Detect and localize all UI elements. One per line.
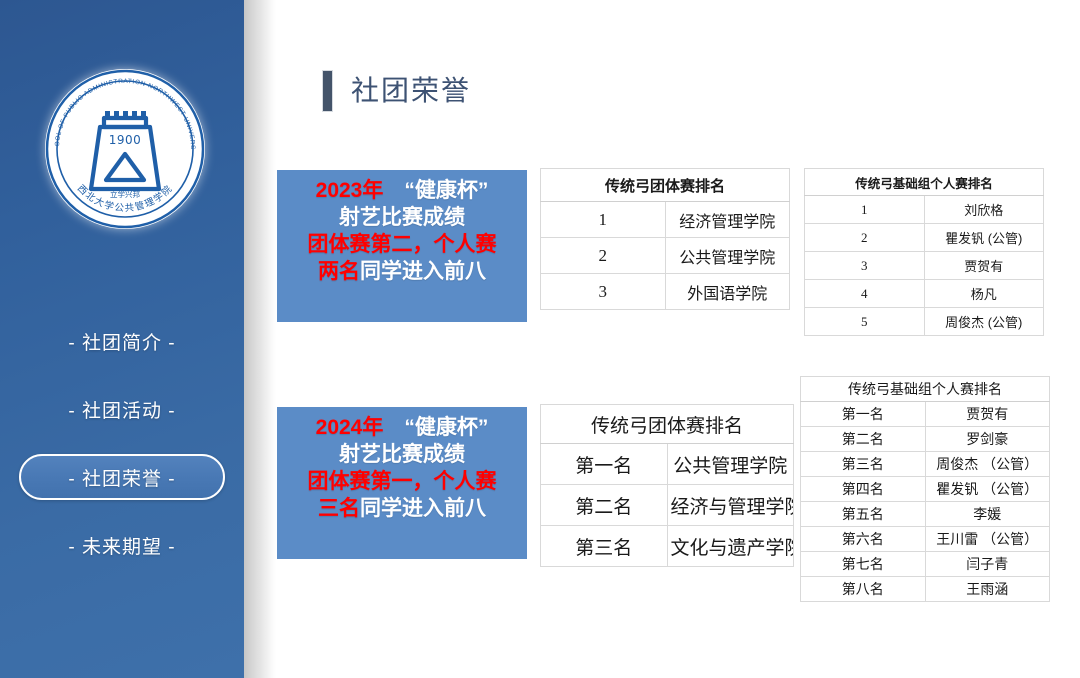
- sidebar-item-label: - 社团荣誉 -: [68, 464, 175, 491]
- cell-name: 公共管理学院: [665, 238, 790, 274]
- table-row: 第五名 李媛: [801, 502, 1050, 527]
- cell-rank: 第七名: [801, 552, 926, 577]
- sidebar-item-label: - 社团简介 -: [68, 328, 175, 355]
- table-row: 第三名 周俊杰 （公管）: [801, 452, 1050, 477]
- callout-line: 团体赛第一，个人赛: [281, 469, 523, 496]
- sidebar-nav: - 社团简介 - - 社团活动 - - 社团荣誉 - - 未来期望 -: [0, 318, 244, 580]
- table-body: 传统弓基础组个人赛排名 第一名 贾贺有 第二名 罗剑豪 第三名 周俊杰 （公管）…: [801, 377, 1050, 602]
- table-team-ranking-2023: 传统弓团体赛排名 1 经济管理学院 2 公共管理学院 3 外国语学院: [540, 168, 790, 310]
- table-row: 第七名 闫子青: [801, 552, 1050, 577]
- callout-segment: 团体赛第二，个人赛: [308, 233, 497, 256]
- callout-segment: 射艺比赛成绩: [339, 206, 465, 229]
- cell-name: 经济与管理学院: [667, 485, 794, 526]
- sidebar-item-label: - 未来期望 -: [68, 532, 175, 559]
- table-row: 2 公共管理学院: [541, 238, 790, 274]
- callout-segment: 三名: [318, 497, 360, 520]
- callout-segment: “健康杯”: [383, 416, 488, 439]
- table-body: 传统弓基础组个人赛排名 1 刘欣格 2 瞿发钒 (公管) 3 贾贺有 4 杨凡: [805, 169, 1044, 336]
- table-title: 传统弓基础组个人赛排名: [801, 377, 1050, 402]
- table-row: 4 杨凡: [805, 280, 1044, 308]
- university-seal-logo: SCHOOL OF PUBLIC ADMINISTRATION NORTHWES…: [42, 66, 208, 232]
- callout-2023: 2023年 “健康杯” 射艺比赛成绩 团体赛第二，个人赛 两名同学进入前八: [277, 170, 527, 322]
- table-header-row: 传统弓团体赛排名: [541, 169, 790, 202]
- table-row: 3 外国语学院: [541, 274, 790, 310]
- table-row: 1 刘欣格: [805, 196, 1044, 224]
- cell-rank: 2: [805, 224, 925, 252]
- cell-rank: 第五名: [801, 502, 926, 527]
- callout-segment: 同学进入前八: [360, 497, 486, 520]
- table-individual-ranking-2024: 传统弓基础组个人赛排名 第一名 贾贺有 第二名 罗剑豪 第三名 周俊杰 （公管）…: [800, 376, 1050, 602]
- callout-segment: 2024年: [316, 416, 384, 439]
- table-row: 第八名 王雨涵: [801, 577, 1050, 602]
- table-row: 第二名 罗剑豪: [801, 427, 1050, 452]
- sidebar-item-intro[interactable]: - 社团简介 -: [19, 318, 225, 364]
- table-title: 传统弓团体赛排名: [541, 169, 790, 202]
- callout-line: 三名同学进入前八: [281, 496, 523, 523]
- cell-name: 刘欣格: [924, 196, 1044, 224]
- nav-spacer: [0, 376, 244, 386]
- cell-name: 罗剑豪: [925, 427, 1050, 452]
- table-title: 传统弓基础组个人赛排名: [805, 169, 1044, 196]
- table-row: 第四名 瞿发钒 （公管）: [801, 477, 1050, 502]
- cell-rank: 3: [805, 252, 925, 280]
- callout-line: 射艺比赛成绩: [281, 442, 523, 469]
- table-title: 传统弓团体赛排名: [541, 405, 794, 444]
- table-team-ranking-2024: 传统弓团体赛排名 第一名 公共管理学院 第二名 经济与管理学院 第三名 文化与遗…: [540, 404, 794, 567]
- cell-rank: 第八名: [801, 577, 926, 602]
- table-row: 5 周俊杰 (公管): [805, 308, 1044, 336]
- callout-segment: 两名: [318, 260, 360, 283]
- cell-name: 闫子青: [925, 552, 1050, 577]
- cell-rank: 第一名: [541, 444, 668, 485]
- cell-name: 经济管理学院: [665, 202, 790, 238]
- table-row: 第一名 贾贺有: [801, 402, 1050, 427]
- sidebar-item-future[interactable]: - 未来期望 -: [19, 522, 225, 568]
- table-body: 传统弓团体赛排名 第一名 公共管理学院 第二名 经济与管理学院 第三名 文化与遗…: [541, 405, 794, 567]
- callout-line: 两名同学进入前八: [281, 259, 523, 286]
- page-title: 社团荣誉: [322, 70, 471, 112]
- cell-name: 贾贺有: [924, 252, 1044, 280]
- cell-rank: 第三名: [801, 452, 926, 477]
- nav-spacer: [0, 512, 244, 522]
- cell-name: 周俊杰 (公管): [924, 308, 1044, 336]
- callout-segment: 团体赛第一，个人赛: [308, 470, 497, 493]
- table-row: 2 瞿发钒 (公管): [805, 224, 1044, 252]
- table-header-row: 传统弓基础组个人赛排名: [805, 169, 1044, 196]
- cell-name: 文化与遗产学院: [667, 526, 794, 567]
- cell-rank: 第六名: [801, 527, 926, 552]
- callout-line: 2023年 “健康杯”: [281, 178, 523, 205]
- slide-root: SCHOOL OF PUBLIC ADMINISTRATION NORTHWES…: [0, 0, 1080, 678]
- cell-rank: 2: [541, 238, 666, 274]
- callout-line: 2024年 “健康杯”: [281, 415, 523, 442]
- callout-segment: 2023年: [316, 179, 384, 202]
- callout-line: 团体赛第二，个人赛: [281, 232, 523, 259]
- sidebar-item-activities[interactable]: - 社团活动 -: [19, 386, 225, 432]
- cell-name: 周俊杰 （公管）: [925, 452, 1050, 477]
- table-row: 1 经济管理学院: [541, 202, 790, 238]
- callout-segment: 射艺比赛成绩: [339, 443, 465, 466]
- callout-segment: “健康杯”: [383, 179, 488, 202]
- sidebar: SCHOOL OF PUBLIC ADMINISTRATION NORTHWES…: [0, 0, 244, 678]
- cell-name: 李媛: [925, 502, 1050, 527]
- sidebar-edge-gradient: [244, 0, 276, 678]
- cell-name: 杨凡: [924, 280, 1044, 308]
- callout-line: 射艺比赛成绩: [281, 205, 523, 232]
- cell-name: 瞿发钒 （公管）: [925, 477, 1050, 502]
- table-row: 第一名 公共管理学院: [541, 444, 794, 485]
- table-row: 第三名 文化与遗产学院: [541, 526, 794, 567]
- cell-rank: 1: [541, 202, 666, 238]
- cell-name: 王雨涵: [925, 577, 1050, 602]
- sidebar-item-honors[interactable]: - 社团荣誉 -: [19, 454, 225, 500]
- cell-rank: 第二名: [541, 485, 668, 526]
- table-header-row: 传统弓团体赛排名: [541, 405, 794, 444]
- cell-name: 贾贺有: [925, 402, 1050, 427]
- callout-2024: 2024年 “健康杯” 射艺比赛成绩 团体赛第一，个人赛 三名同学进入前八: [277, 407, 527, 559]
- svg-text:1900: 1900: [109, 133, 142, 147]
- table-header-row: 传统弓基础组个人赛排名: [801, 377, 1050, 402]
- avatar: SCHOOL OF PUBLIC ADMINISTRATION NORTHWES…: [42, 66, 208, 232]
- cell-name: 王川雷 （公管）: [925, 527, 1050, 552]
- cell-rank: 4: [805, 280, 925, 308]
- cell-rank: 3: [541, 274, 666, 310]
- table-individual-ranking-2023: 传统弓基础组个人赛排名 1 刘欣格 2 瞿发钒 (公管) 3 贾贺有 4 杨凡: [804, 168, 1044, 336]
- cell-rank: 第一名: [801, 402, 926, 427]
- table-row: 3 贾贺有: [805, 252, 1044, 280]
- svg-text:立学兴邦: 立学兴邦: [110, 189, 140, 199]
- cell-rank: 5: [805, 308, 925, 336]
- cell-name: 瞿发钒 (公管): [924, 224, 1044, 252]
- nav-spacer: [0, 444, 244, 454]
- main-content: 社团荣誉 2023年 “健康杯” 射艺比赛成绩 团体赛第二，个人赛 两名同学进入…: [276, 0, 1080, 678]
- title-accent-bar: [322, 70, 333, 112]
- cell-rank: 第三名: [541, 526, 668, 567]
- table-row: 第六名 王川雷 （公管）: [801, 527, 1050, 552]
- cell-name: 公共管理学院: [667, 444, 794, 485]
- cell-rank: 第四名: [801, 477, 926, 502]
- cell-rank: 1: [805, 196, 925, 224]
- table-body: 传统弓团体赛排名 1 经济管理学院 2 公共管理学院 3 外国语学院: [541, 169, 790, 310]
- cell-name: 外国语学院: [665, 274, 790, 310]
- sidebar-item-label: - 社团活动 -: [68, 396, 175, 423]
- page-title-text: 社团荣誉: [351, 77, 471, 105]
- callout-segment: 同学进入前八: [360, 260, 486, 283]
- table-row: 第二名 经济与管理学院: [541, 485, 794, 526]
- cell-rank: 第二名: [801, 427, 926, 452]
